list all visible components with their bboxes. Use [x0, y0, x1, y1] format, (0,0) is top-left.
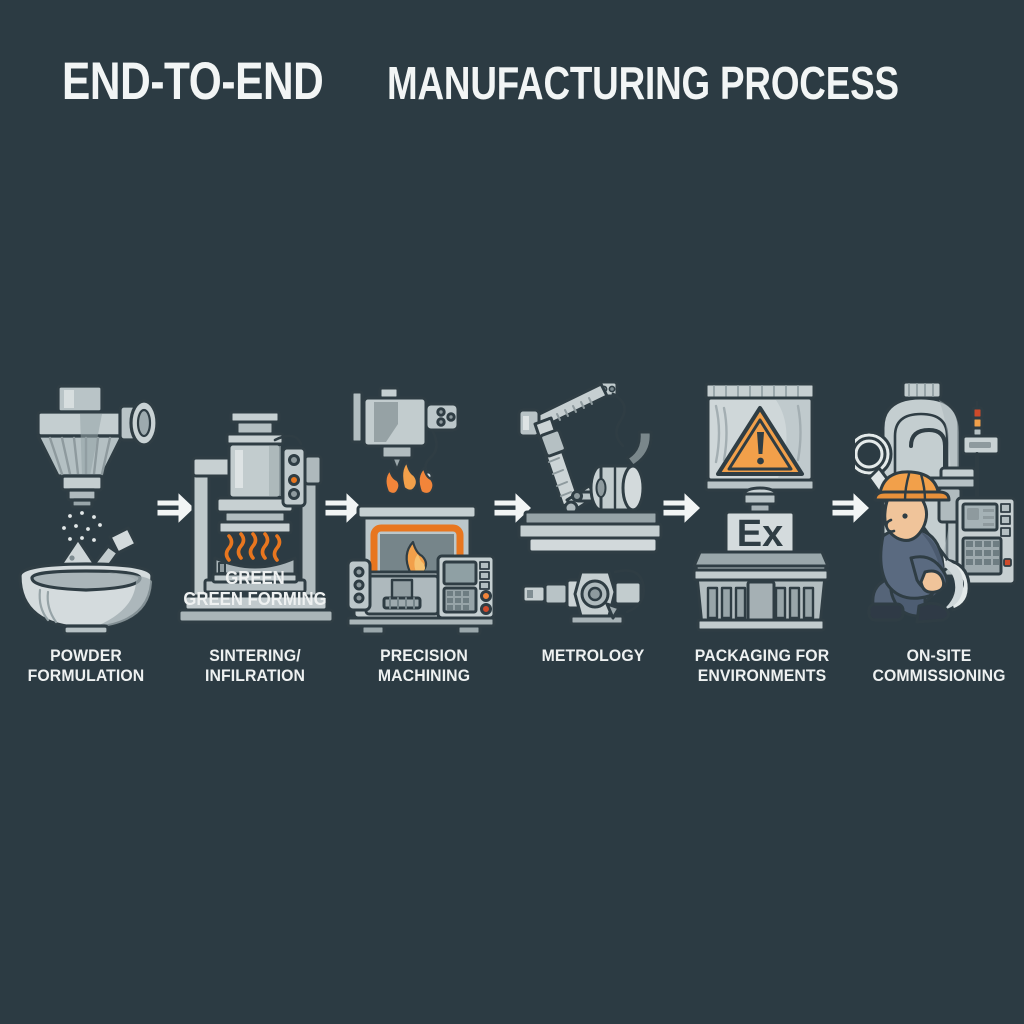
stage-packaging-for-environments[interactable]: Ex PACKAGING FOR ENVIRONMENTS — [678, 370, 846, 700]
infographic-canvas: END-TO-END MANUFACTURING PROCESS — [0, 0, 1024, 1024]
stage-label: ON-SITE COMMISSIONING — [855, 646, 1022, 686]
cnc-machine-furnace-icon — [340, 370, 508, 638]
hydraulic-press-furnace-icon — [171, 370, 339, 638]
stage-label: METROLOGY — [509, 646, 676, 666]
stage-label: SINTERING/ INFILRATION — [171, 646, 338, 686]
stage-label-line2: MACHINING — [340, 666, 507, 686]
page-title-emphasis: END-TO-END — [62, 55, 323, 108]
stage-label-line1: SINTERING/ — [171, 646, 338, 666]
stage-label-line2: COMMISSIONING — [855, 666, 1022, 686]
technician-wrench-equipment-icon — [855, 370, 1023, 638]
stage-label-line1: METROLOGY — [509, 646, 676, 666]
stage-label-line2: INFILRATION — [171, 666, 338, 686]
ex-marking-text: Ex — [737, 513, 783, 555]
stage-label-line1: ON-SITE — [855, 646, 1022, 666]
stage-on-site-commissioning[interactable]: ON-SITE COMMISSIONING — [855, 370, 1023, 700]
page-title: END-TO-END MANUFACTURING PROCESS — [62, 55, 1024, 108]
stage-label-line1: PACKAGING FOR — [678, 646, 845, 666]
stage-label: POWDER FORMULATION — [2, 646, 169, 686]
stage-label: PRECISION MACHINING — [340, 646, 507, 686]
stage-sintering-infilration[interactable]: GREEN GREEN FORMING SINTERING/ INFILRATI… — [171, 370, 339, 700]
sealed-bag-ex-crate-icon: Ex — [678, 370, 846, 638]
stage-label-line1: PRECISION — [340, 646, 507, 666]
stage-metrology[interactable]: METROLOGY — [509, 370, 677, 700]
page-title-rest: MANUFACTURING PROCESS — [387, 60, 899, 106]
stage-label-line2: FORMULATION — [2, 666, 169, 686]
stage-label-line1: POWDER — [2, 646, 169, 666]
stage-label-line2: ENVIRONMENTS — [678, 666, 845, 686]
stage-precision-machining[interactable]: PRECISION MACHINING — [340, 370, 508, 700]
stage-label: PACKAGING FOR ENVIRONMENTS — [678, 646, 845, 686]
powder-hopper-mortar-icon — [2, 370, 170, 638]
stage-powder-formulation[interactable]: POWDER FORMULATION — [2, 370, 170, 700]
measuring-arm-micrometer-icon — [509, 370, 677, 638]
